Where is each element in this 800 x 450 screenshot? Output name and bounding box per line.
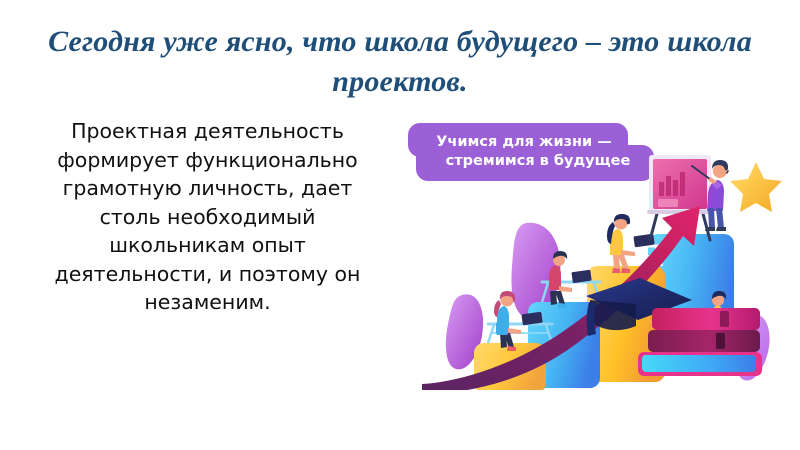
page-title: Сегодня уже ясно, что школа будущего – э… bbox=[40, 22, 760, 102]
education-growth-illustration bbox=[400, 150, 800, 390]
slide-canvas: Сегодня уже ясно, что школа будущего – э… bbox=[0, 0, 800, 450]
gold-star bbox=[730, 162, 782, 212]
body-paragraph: Проектная деятельность формирует функцио… bbox=[30, 117, 385, 317]
book-stack bbox=[638, 308, 762, 376]
